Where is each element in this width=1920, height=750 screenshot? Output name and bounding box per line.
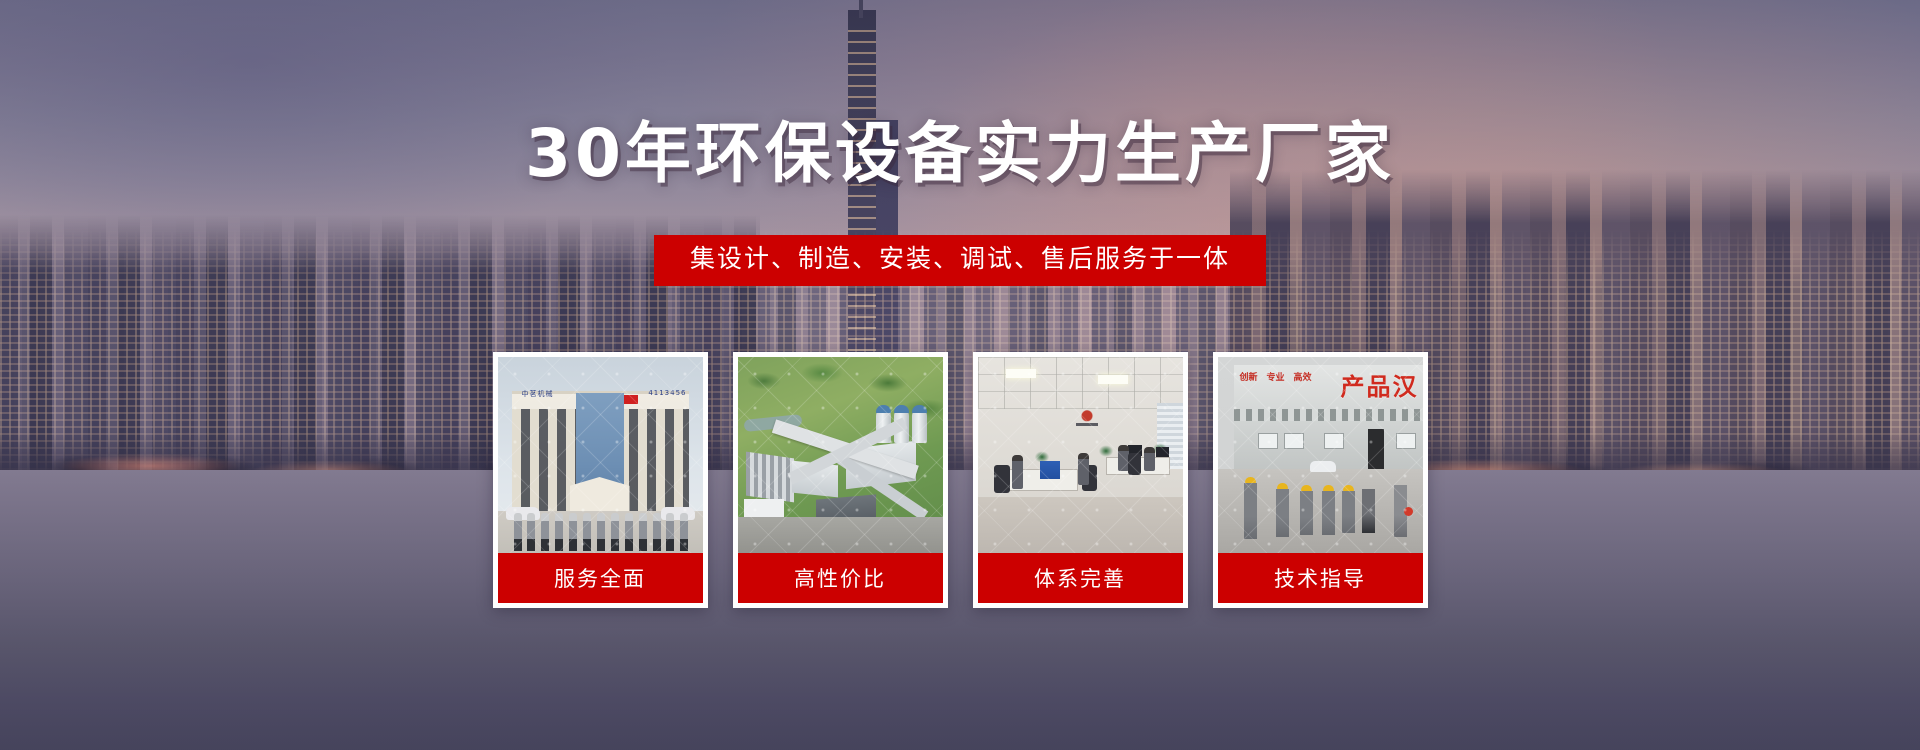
staff-row — [514, 513, 689, 553]
banner-headline: 30年环保设备实力生产厂家 — [0, 100, 1920, 196]
feature-card[interactable]: 体系完善 — [973, 352, 1188, 608]
aerial-plant-photo — [738, 357, 943, 553]
factory-wall-big-text: 产品汉 — [1341, 367, 1419, 402]
banner-content: 30年环保设备实力生产厂家 集设计、制造、安装、调试、售后服务于一体 中茗机械 … — [0, 0, 1920, 750]
building-sign-phone: 4113456 — [648, 389, 686, 397]
feature-card-label: 高性价比 — [738, 553, 943, 603]
hero-banner: 30年环保设备实力生产厂家 集设计、制造、安装、调试、售后服务于一体 中茗机械 … — [0, 0, 1920, 750]
building-sign-text: 中茗机械 — [522, 389, 554, 399]
feature-card-label: 服务全面 — [498, 553, 703, 603]
office-interior-photo — [978, 357, 1183, 553]
feature-card[interactable]: 中茗机械 4113456 服务全面 — [493, 352, 708, 608]
feature-card[interactable]: 高性价比 — [733, 352, 948, 608]
feature-card-label: 体系完善 — [978, 553, 1183, 603]
feature-card-list: 中茗机械 4113456 服务全面 — [0, 352, 1920, 610]
feature-card-label: 技术指导 — [1218, 553, 1423, 603]
banner-subtitle-row: 集设计、制造、安装、调试、售后服务于一体 — [0, 235, 1920, 286]
feature-card[interactable]: 创新 专业 高效 产品汉 — [1213, 352, 1428, 608]
office-building-staff-photo: 中茗机械 4113456 — [498, 357, 703, 553]
banner-subtitle-badge: 集设计、制造、安装、调试、售后服务于一体 — [654, 235, 1266, 286]
workers-factory-photo: 创新 专业 高效 产品汉 — [1218, 357, 1423, 553]
